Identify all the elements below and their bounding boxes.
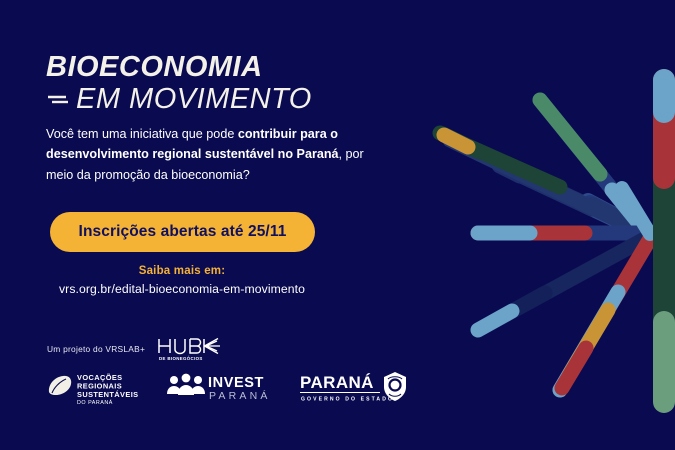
- parana-line-1: PARANÁ: [300, 373, 374, 392]
- parana-line-2: GOVERNO DO ESTADO: [301, 397, 394, 403]
- logo-vocacoes-regionais-sustentaveis: VOCAÇÕES REGIONAIS SUSTENTÁVEIS DO PARAN…: [44, 370, 140, 406]
- headline-line-2-row: EM MOVIMENTO: [46, 84, 426, 114]
- body-copy: Você tem uma iniciativa que pode contrib…: [46, 124, 376, 185]
- burst-spoke-gold-long: [590, 203, 645, 232]
- hub-bionegocios-logo: DE BIONEGÓCIOS: [156, 336, 224, 362]
- partner-logo-strip: VOCAÇÕES REGIONAIS SUSTENTÁVEIS DO PARAN…: [44, 370, 412, 406]
- headline-line-2: EM MOVIMENTO: [76, 84, 312, 114]
- burst-wedge-green: [596, 170, 648, 233]
- burst-arm-gold: [592, 205, 646, 233]
- more-info-block: Saiba mais em: vrs.org.br/edital-bioecon…: [46, 265, 318, 296]
- invest-line-2: PARANÁ: [209, 389, 271, 402]
- headline: BIOECONOMIA EM MOVIMENTO: [46, 52, 426, 114]
- body-copy-part1: Você tem uma iniciativa que pode: [46, 127, 238, 141]
- hub-tagline: DE BIONEGÓCIOS: [159, 356, 203, 361]
- logo-governo-parana: PARANÁ GOVERNO DO ESTADO: [300, 371, 412, 405]
- speed-lines-icon: [46, 90, 72, 108]
- seed-leaf-icon: [49, 376, 71, 395]
- headline-line-1: BIOECONOMIA: [46, 52, 426, 82]
- more-info-label: Saiba mais em:: [46, 265, 318, 277]
- vrs-line-4: DO PARANÁ: [77, 399, 113, 406]
- burst-arm-f: [622, 188, 650, 234]
- burst-arm-d: [478, 236, 650, 330]
- more-info-url[interactable]: vrs.org.br/edital-bioeconomia-em-movimen…: [46, 282, 318, 296]
- people-icon: [167, 374, 205, 395]
- burst-arm-a: [440, 133, 647, 234]
- project-credit: Um projeto do VRSLAB+ DE BIONEGÓCIOS: [47, 336, 224, 362]
- burst-arm-b: [540, 100, 648, 234]
- inscriptions-cta-button[interactable]: Inscrições abertas até 25/11: [50, 212, 315, 252]
- logo-invest-parana: INVEST PARANÁ: [166, 372, 274, 404]
- promotional-banner: BIOECONOMIA EM MOVIMENTO Você tem uma in…: [0, 0, 675, 450]
- invest-line-1: INVEST: [208, 375, 264, 391]
- burst-spoke-1: [588, 201, 648, 233]
- project-credit-text: Um projeto do VRSLAB+: [47, 344, 145, 354]
- burst-arm-e: [560, 237, 651, 390]
- burst-spoke-gold: [500, 165, 650, 235]
- vrs-line-3: SUSTENTÁVEIS: [77, 390, 138, 399]
